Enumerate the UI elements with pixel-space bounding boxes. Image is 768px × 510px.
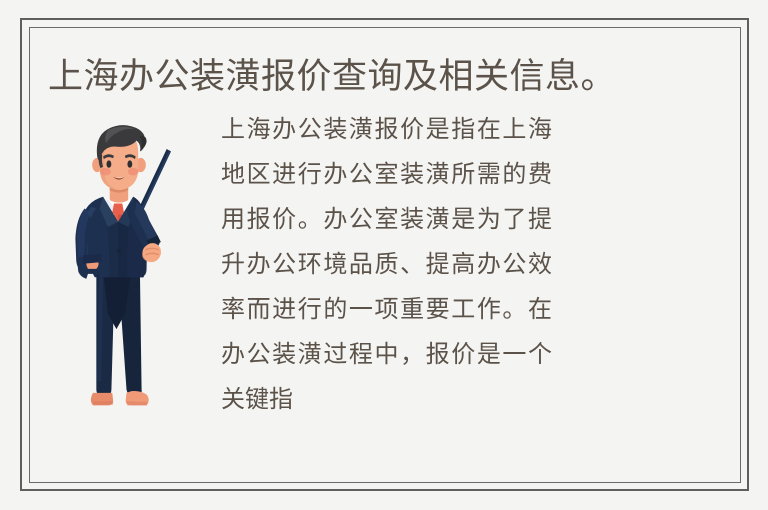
pointer-stick-icon bbox=[138, 149, 171, 212]
article-body-text: 上海办公装潢报价是指在上海地区进行办公室装潢所需的费用报价。办公室装潢是为了提升… bbox=[221, 107, 552, 422]
businessman-with-pointer-illustration bbox=[59, 113, 194, 423]
page-root: 上海办公装潢报价查询及相关信息。 bbox=[0, 0, 768, 510]
content-region: 上海办公装潢报价查询及相关信息。 bbox=[29, 27, 741, 483]
page-title: 上海办公装潢报价查询及相关信息。 bbox=[48, 54, 728, 100]
feet bbox=[91, 391, 149, 405]
legs bbox=[96, 269, 141, 396]
article-body-area: 上海办公装潢报价是指在上海地区进行办公室装潢所需的费用报价。办公室装潢是为了提升… bbox=[29, 105, 741, 483]
